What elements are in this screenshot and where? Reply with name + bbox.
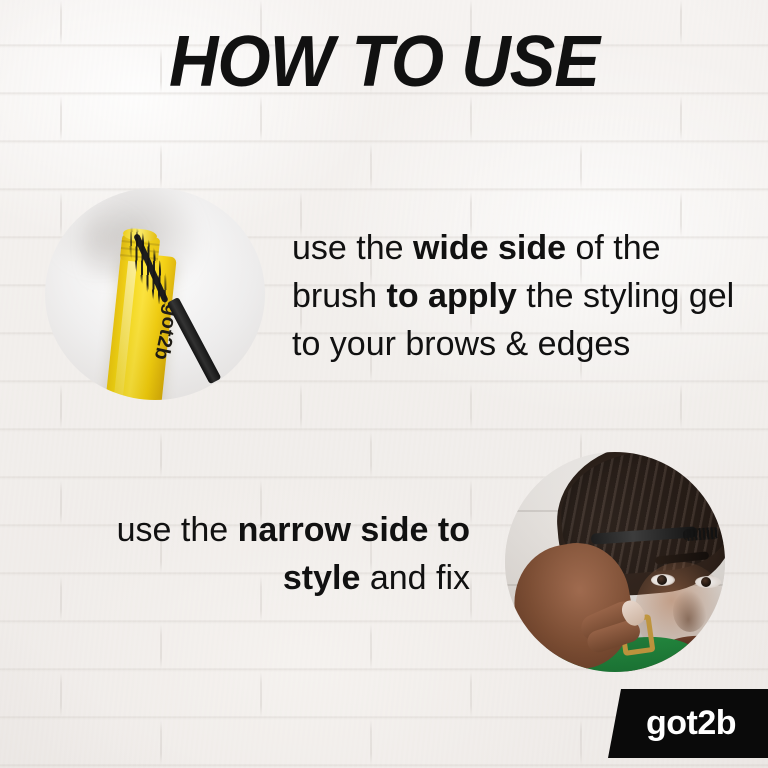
plain-text: and fix	[360, 559, 470, 597]
model-applying-photo	[505, 452, 725, 672]
model-pupil-right	[701, 577, 711, 587]
model-brush-tip-bristles	[683, 527, 720, 541]
plain-text: use the	[117, 511, 238, 549]
page-title: HOW TO USE	[19, 26, 749, 98]
emphasis-text: to apply	[387, 277, 517, 315]
instruction-one-segments: use the wide side of the brush to apply …	[292, 229, 734, 363]
brand-logo-text: got2b	[640, 704, 736, 743]
instruction-text-wide-side: use the wide side of the brush to apply …	[292, 224, 752, 368]
model-nose	[673, 590, 707, 632]
emphasis-text: wide side	[413, 229, 566, 267]
tube-highlight	[114, 256, 138, 398]
instruction-two-segments: use the narrow side to style and fix	[117, 511, 470, 597]
model-pupil-left	[657, 575, 667, 585]
brand-logo-badge: got2b	[608, 689, 768, 758]
plain-text: use the	[292, 229, 413, 267]
infographic-canvas: HOW TO USE got2b use the wide side of th…	[0, 0, 768, 768]
instruction-text-narrow-side: use the narrow side to style and fix	[108, 506, 470, 602]
emphasis-text: narrow side	[238, 511, 429, 549]
plain-text	[428, 511, 437, 549]
product-tube-photo: got2b	[45, 188, 265, 400]
